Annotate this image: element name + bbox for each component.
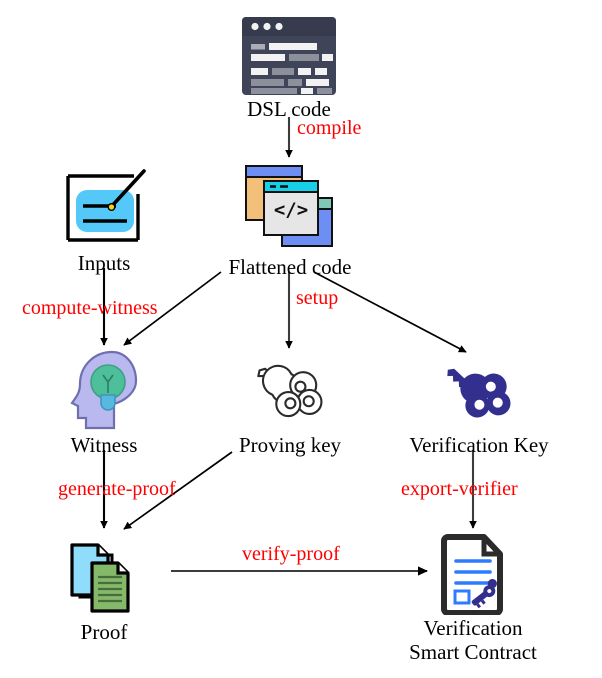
code-window-icon [241, 16, 337, 96]
node-verification-smart-contract[interactable]: Verification Smart Contract [398, 531, 548, 664]
edge-label-generate-proof: generate-proof [58, 478, 176, 501]
node-proof[interactable]: Proof [62, 533, 146, 645]
stacked-code-windows-icon: </> [242, 162, 338, 254]
node-inputs[interactable]: Inputs [51, 166, 157, 276]
node-label-verification-smart-contract-line1: Verification [423, 617, 522, 641]
diagram-canvas: DSL code Inputs [0, 0, 602, 678]
node-flattened-code[interactable]: </> Flattened code [219, 162, 361, 280]
edge-label-verify-proof: verify-proof [242, 543, 340, 566]
node-proving-key[interactable]: Proving key [224, 352, 356, 458]
node-dsl-code[interactable]: DSL code [239, 16, 339, 122]
contract-key-document-icon [434, 531, 512, 615]
node-label-proving-key: Proving key [239, 434, 341, 458]
node-label-verification-key: Verification Key [409, 434, 548, 458]
node-label-witness: Witness [71, 434, 138, 458]
edge-label-export-verifier: export-verifier [401, 478, 518, 501]
node-label-verification-smart-contract-line2: Smart Contract [409, 641, 537, 665]
node-witness[interactable]: Witness [59, 348, 149, 458]
key-solid-icon [438, 352, 520, 432]
node-verification-key[interactable]: Verification Key [400, 352, 558, 458]
edge-label-setup: setup [296, 287, 338, 310]
form-pencil-icon [54, 166, 154, 250]
key-outline-icon [249, 352, 331, 432]
edge-label-compile: compile [297, 117, 361, 140]
stacked-documents-icon [62, 533, 146, 619]
node-label-inputs: Inputs [78, 252, 131, 276]
edge-label-compute-witness: compute-witness [22, 297, 158, 320]
code-glyph: </> [274, 199, 308, 221]
edge-flattened-to-verification-key [314, 272, 466, 352]
node-label-flattened-code: Flattened code [228, 256, 351, 280]
node-label-proof: Proof [81, 621, 128, 645]
head-lightbulb-icon [64, 348, 144, 432]
